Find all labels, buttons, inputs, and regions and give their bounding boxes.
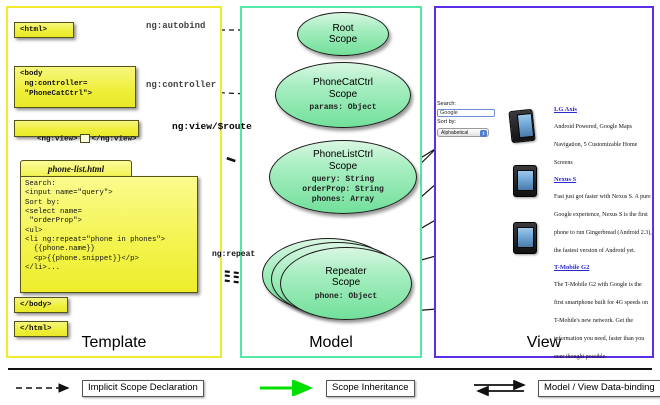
ngview-placeholder-icon [80,134,90,143]
code-box-body-close: </body> [14,297,68,313]
search-label: Search: [437,101,499,108]
phone-snippet: The T-Mobile G2 with Google is the first… [554,282,648,360]
scope-phonecatctrl: PhoneCatCtrl Scope params: Object [275,62,411,128]
template-file-code: Search: <input name="query"> Sort by: <s… [20,176,198,293]
search-input[interactable]: Google [437,109,495,117]
phone-thumbnail-1 [508,109,535,143]
scope-root-line1: Root [332,23,353,35]
template-file-callout: phone-list.html Search: <input name="que… [20,160,198,293]
scope-rep-line1: Repeater [325,266,366,278]
updown-arrow-icon: ⇕ [480,130,487,137]
phone-screen-3 [517,227,534,248]
double-arrow-icon [470,380,532,396]
scope-rep-line2: Scope [332,277,360,289]
code-box-body-open: <body ng:controller= "PhoneCatCtrl"> [14,66,136,108]
view-search-panel: Search: Google Sort by: Alphabetical ⇕ [437,101,499,137]
legend-item-implicit: Implicit Scope Declaration [14,380,204,397]
green-arrow-icon [258,380,320,396]
scope-list-line2: Scope [329,161,357,173]
edge-label-controller: ng:controller [146,80,216,90]
scope-list-line1: PhoneListCtrl [313,149,373,161]
code-box-ngview: <ng:view></ng:view> [14,120,139,137]
phone-thumbnail-3 [513,222,537,254]
edge-label-autobind: ng:autobind [146,21,205,31]
column-label-model: Model [242,334,420,352]
phone-thumbnail-2 [513,165,537,197]
phone-snippet: Android Powered, Google Maps Navigation,… [554,124,637,166]
scope-phonelistctrl: PhoneListCtrl Scope query: String orderP… [269,140,417,214]
legend: Implicit Scope Declaration Scope Inherit… [0,368,660,405]
legend-item-databinding: Model / View Data-binding [470,380,660,397]
scope-root-line2: Scope [329,34,357,46]
view-phone-list: LG Axis Android Powered, Google Maps Nav… [554,106,652,370]
legend-item-inheritance: Scope Inheritance [258,380,415,397]
list-item[interactable]: LG Axis Android Powered, Google Maps Nav… [554,106,652,169]
phone-link[interactable]: Nexus S [554,176,652,183]
scope-repeater-stack: Repeater Scope phone: Object [262,238,420,322]
ngview-close-tag: </ng:view> [92,135,137,143]
ngview-open-tag: <ng:view> [37,135,78,143]
phone-screen-1 [517,113,534,138]
phone-snippet: Fast just got faster with Nexus S. A pur… [554,194,652,254]
edge-label-route: ng:view/$route [172,121,252,132]
sort-select[interactable]: Alphabetical ⇕ [437,128,489,137]
code-box-html-close: </html> [14,321,68,337]
dashed-arrow-icon [14,380,76,396]
diagram-canvas: Template <html> <body ng:controller= "Ph… [0,0,660,405]
scope-list-props: query: String orderProp: String phones: … [302,175,384,205]
sort-label: Sort by: [437,119,499,126]
phone-link[interactable]: LG Axis [554,106,652,113]
legend-label-inheritance: Scope Inheritance [326,380,415,397]
scope-repeater: Repeater Scope phone: Object [280,247,412,320]
scope-cat-line2: Scope [329,89,357,101]
scope-rep-props: phone: Object [315,292,377,302]
list-item[interactable]: T-Mobile G2 The T-Mobile G2 with Google … [554,264,652,363]
sort-select-value: Alphabetical [441,130,468,136]
phone-screen-2 [517,170,534,191]
legend-label-implicit: Implicit Scope Declaration [82,380,204,397]
legend-divider [8,368,652,370]
edge-label-repeat: ng:repeat [212,250,255,259]
phone-link[interactable]: T-Mobile G2 [554,264,652,271]
list-item[interactable]: Nexus S Fast just got faster with Nexus … [554,176,652,257]
legend-label-databinding: Model / View Data-binding [538,380,660,397]
scope-cat-props: params: Object [309,103,376,113]
code-box-html-open: <html> [14,22,74,38]
scope-cat-line1: PhoneCatCtrl [313,77,373,89]
scope-root: Root Scope [297,12,389,56]
